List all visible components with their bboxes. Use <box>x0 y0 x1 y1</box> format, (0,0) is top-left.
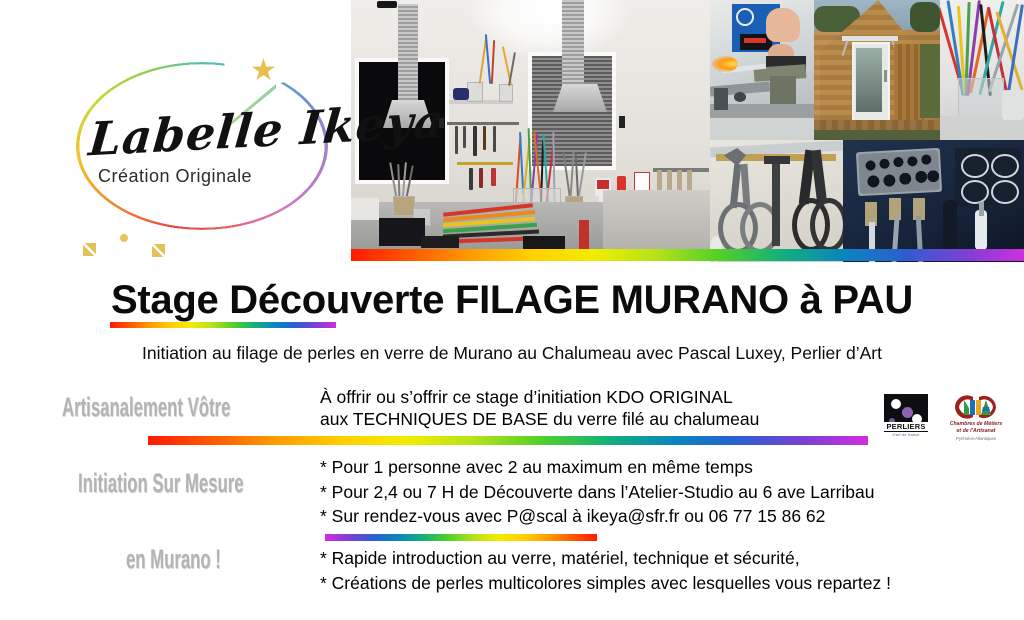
cma-mark-icon <box>952 394 1000 420</box>
gold-dot-decor <box>120 234 128 242</box>
photo-wooden-cabin <box>814 0 940 140</box>
rainbow-divider-middle <box>148 436 868 445</box>
perliers-logo: PERLIERS d’art de france <box>884 394 928 438</box>
gold-square-decor-left <box>83 243 96 256</box>
photo-colored-glass-rods <box>940 0 1024 140</box>
gold-square-decor-right <box>152 244 165 257</box>
intro-line-1: À offrir ou s’offrir ce stage d’initiati… <box>320 386 759 408</box>
page-subtitle: Initiation au filage de perles en verre … <box>0 343 1024 364</box>
brand-logo: ★ Labelle Ikeya Création Originale <box>58 48 348 248</box>
slogan-artisanalement-votre: Artisanalement Vôtre <box>62 392 230 423</box>
partner-logos: PERLIERS d’art de france Chambres de Mét… <box>884 394 1014 446</box>
perliers-wordmark: PERLIERS <box>884 422 928 431</box>
star-icon: ★ <box>250 56 280 86</box>
photo-shears-tools <box>710 140 843 262</box>
list-item: * Pour 2,4 ou 7 H de Découverte dans l’A… <box>320 480 875 505</box>
photo-torch-flame <box>710 0 814 140</box>
cma-line-2: et de l’Artisanat <box>938 428 1014 435</box>
slogan-initiation-sur-mesure: Initiation Sur Mesure <box>78 468 244 499</box>
photo-collage <box>351 0 1024 262</box>
list-item: * Sur rendez-vous avec P@scal à ikeya@sf… <box>320 504 875 529</box>
list-item: * Pour 1 personne avec 2 au maximum en m… <box>320 455 875 480</box>
title-underline-rainbow <box>110 322 336 328</box>
practical-details-list: * Pour 1 personne avec 2 au maximum en m… <box>320 455 875 529</box>
list-item: * Rapide introduction au verre, matériel… <box>320 546 891 571</box>
list-item: * Créations de perles multicolores simpl… <box>320 571 891 596</box>
page-title: Stage Découverte FILAGE MURANO à PAU <box>0 278 1024 323</box>
cma-line-3: Pyrénées-Atlantiques <box>938 436 1014 442</box>
cma-logo: Chambres de Métiers et de l’Artisanat Py… <box>938 394 1014 444</box>
logo-tagline: Création Originale <box>98 166 328 187</box>
cma-line-1: Chambres de Métiers <box>938 421 1014 428</box>
perliers-subtitle: d’art de france <box>884 432 928 438</box>
intro-line-2: aux TECHNIQUES DE BASE du verre filé au … <box>320 408 759 430</box>
program-details-list: * Rapide introduction au verre, matériel… <box>320 546 891 595</box>
photo-bead-press-tools <box>843 140 1024 262</box>
intro-paragraph: À offrir ou s’offrir ce stage d’initiati… <box>320 386 759 430</box>
rainbow-divider-collage <box>351 249 1024 261</box>
rainbow-divider-lower <box>325 534 597 541</box>
slogan-en-murano: en Murano ! <box>126 544 221 575</box>
